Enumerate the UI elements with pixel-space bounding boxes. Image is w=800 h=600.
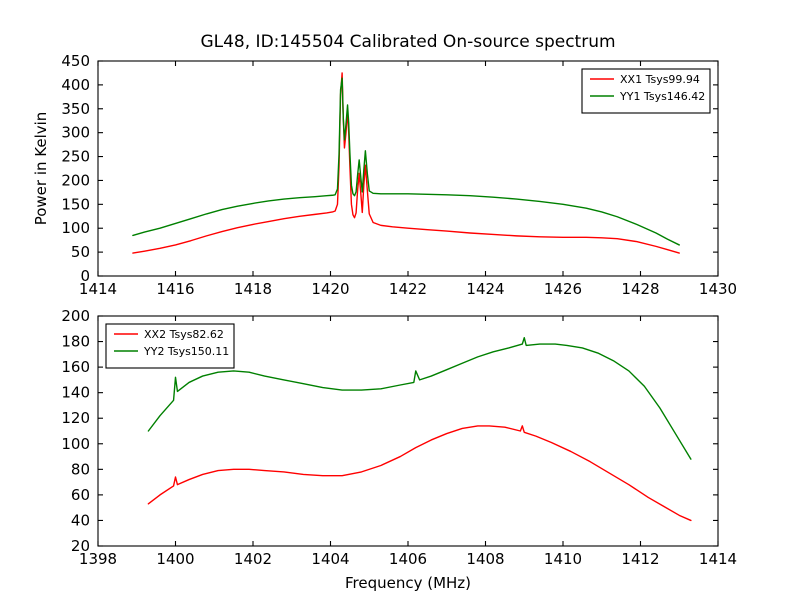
legend-label-yy2: YY2 Tsys150.11: [143, 345, 229, 358]
y-tick-label-120: 120: [61, 409, 90, 427]
y-tick-label-180: 180: [61, 333, 90, 351]
x-tick-label-1428: 1428: [621, 280, 659, 298]
y-tick-label-80: 80: [71, 460, 90, 478]
y-tick-label-400: 400: [61, 76, 90, 94]
legend-label-xx2: XX2 Tsys82.62: [144, 328, 224, 341]
y-tick-label-0: 0: [80, 267, 90, 285]
x-tick-label-1406: 1406: [389, 550, 427, 568]
y-tick-label-450: 450: [61, 52, 90, 70]
x-tick-label-1402: 1402: [234, 550, 272, 568]
y-tick-label-250: 250: [61, 148, 90, 166]
y-tick-label-300: 300: [61, 124, 90, 142]
y-tick-label-60: 60: [71, 486, 90, 504]
x-tick-label-1408: 1408: [466, 550, 504, 568]
plot-canvas: 1414141614181420142214241426142814300501…: [0, 0, 800, 600]
y-tick-label-200: 200: [61, 307, 90, 325]
y-tick-label-50: 50: [71, 243, 90, 261]
y-tick-label-160: 160: [61, 358, 90, 376]
y-tick-label-100: 100: [61, 435, 90, 453]
x-tick-label-1430: 1430: [699, 280, 737, 298]
spectrum-trace-xx2: [148, 426, 691, 521]
x-axis-label: Frequency (MHz): [345, 574, 471, 592]
legend-label-yy1: YY1 Tsys146.42: [619, 90, 705, 103]
x-tick-label-1418: 1418: [234, 280, 272, 298]
x-tick-label-1410: 1410: [544, 550, 582, 568]
y-tick-label-150: 150: [61, 195, 90, 213]
y-tick-label-40: 40: [71, 511, 90, 529]
y-axis-label: Power in Kelvin: [32, 112, 50, 226]
x-tick-label-1400: 1400: [156, 550, 194, 568]
x-tick-label-1426: 1426: [544, 280, 582, 298]
y-tick-label-140: 140: [61, 384, 90, 402]
y-tick-label-20: 20: [71, 537, 90, 555]
x-tick-label-1420: 1420: [311, 280, 349, 298]
y-tick-label-100: 100: [61, 219, 90, 237]
x-tick-label-1412: 1412: [621, 550, 659, 568]
legend-label-xx1: XX1 Tsys99.94: [620, 73, 700, 86]
x-tick-label-1424: 1424: [466, 280, 504, 298]
y-tick-label-350: 350: [61, 100, 90, 118]
spectrum-figure: 1414141614181420142214241426142814300501…: [0, 0, 800, 600]
y-tick-label-200: 200: [61, 171, 90, 189]
figure-title: GL48, ID:145504 Calibrated On-source spe…: [200, 32, 615, 52]
x-tick-label-1416: 1416: [156, 280, 194, 298]
x-tick-label-1404: 1404: [311, 550, 349, 568]
x-tick-label-1422: 1422: [389, 280, 427, 298]
x-tick-label-1414: 1414: [699, 550, 737, 568]
